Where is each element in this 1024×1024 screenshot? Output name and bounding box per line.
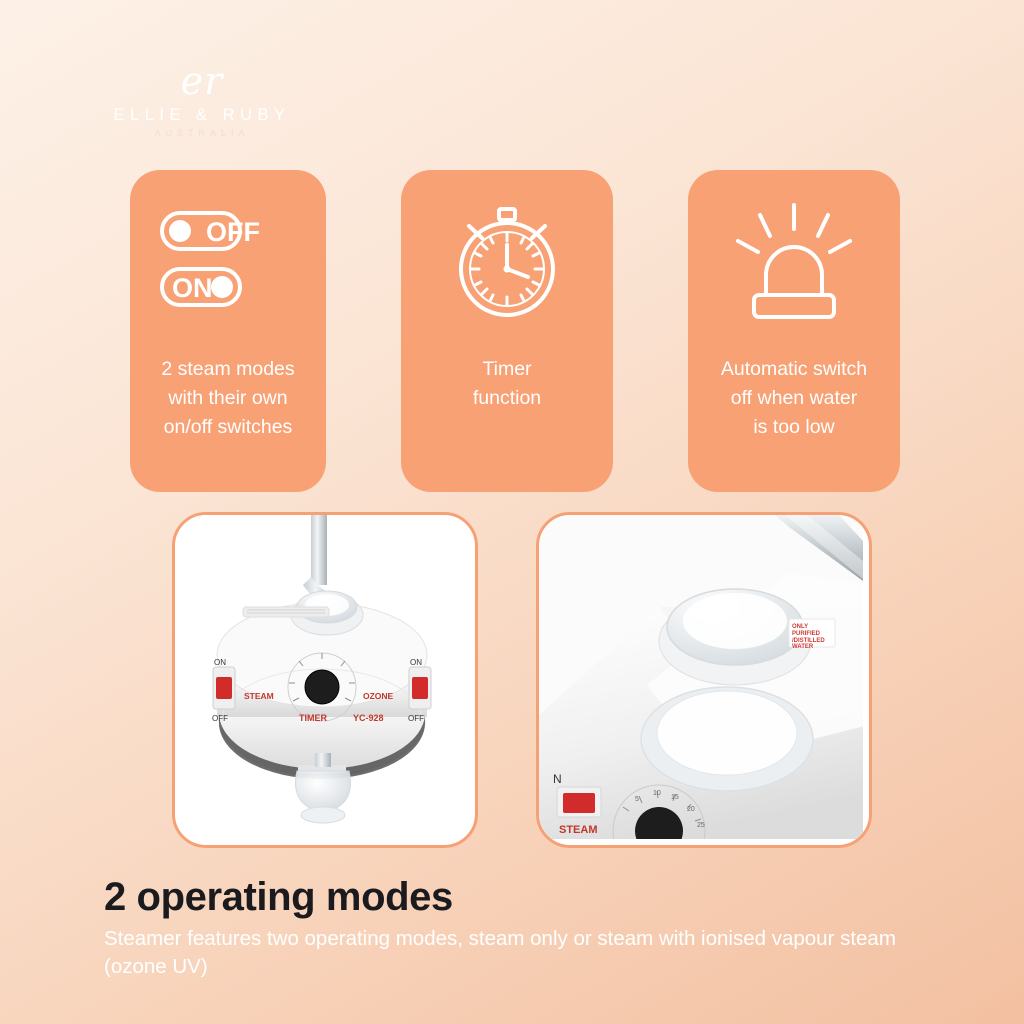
brand-subtitle: AUSTRALIA bbox=[82, 128, 322, 138]
feature-caption: 2 steam modes with their own on/off swit… bbox=[155, 355, 300, 442]
svg-text:OZONE: OZONE bbox=[363, 691, 394, 701]
feature-card-auto-off: Automatic switch off when water is too l… bbox=[688, 170, 900, 492]
svg-text:10: 10 bbox=[653, 790, 661, 797]
brand-logo: er ELLIE & RUBY AUSTRALIA bbox=[82, 62, 322, 138]
svg-text:STEAM: STEAM bbox=[559, 824, 598, 836]
svg-text:ON: ON bbox=[172, 273, 213, 303]
steamer-water-tank-photo: ONLY PURIFIED /DISTILLED WATER N STEAM bbox=[536, 512, 872, 848]
svg-text:OFF: OFF bbox=[206, 217, 260, 247]
svg-text:WATER: WATER bbox=[792, 644, 814, 650]
svg-text:OFF: OFF bbox=[212, 714, 228, 723]
svg-text:25: 25 bbox=[697, 822, 705, 829]
svg-text:ON: ON bbox=[410, 658, 422, 667]
svg-text:N: N bbox=[553, 772, 562, 786]
brand-monogram: er bbox=[82, 62, 322, 100]
feature-card-steam-modes: OFF ON 2 steam modes with their own on/o… bbox=[130, 170, 326, 492]
svg-text:15: 15 bbox=[671, 794, 679, 801]
svg-text:ON: ON bbox=[214, 658, 226, 667]
product-photo-row: ON OFF ON OFF bbox=[172, 512, 872, 842]
steamer-control-panel-photo: ON OFF ON OFF bbox=[172, 512, 478, 848]
svg-text:YC-928: YC-928 bbox=[353, 713, 384, 723]
feature-card-row: OFF ON 2 steam modes with their own on/o… bbox=[130, 170, 900, 492]
alarm-beacon-icon bbox=[688, 170, 900, 355]
svg-text:PURIFIED: PURIFIED bbox=[792, 631, 821, 637]
svg-text:TIMER: TIMER bbox=[299, 713, 327, 723]
stopwatch-timer-icon bbox=[401, 170, 613, 355]
feature-caption: Automatic switch off when water is too l… bbox=[715, 355, 873, 442]
page-headline: 2 operating modes bbox=[104, 875, 453, 920]
feature-card-timer: Timer function bbox=[401, 170, 613, 492]
toggle-switches-icon: OFF ON bbox=[130, 170, 326, 355]
svg-text:20: 20 bbox=[687, 806, 695, 813]
svg-text:5: 5 bbox=[635, 796, 639, 803]
page-subtext: Steamer features two operating modes, st… bbox=[104, 925, 944, 981]
poster-root: er ELLIE & RUBY AUSTRALIA OFF ON 2 steam… bbox=[0, 0, 1024, 1024]
brand-name: ELLIE & RUBY bbox=[82, 106, 322, 125]
svg-text:STEAM: STEAM bbox=[244, 691, 274, 701]
svg-text:ONLY: ONLY bbox=[792, 624, 808, 630]
feature-caption: Timer function bbox=[467, 355, 547, 413]
svg-text:OFF: OFF bbox=[408, 714, 424, 723]
